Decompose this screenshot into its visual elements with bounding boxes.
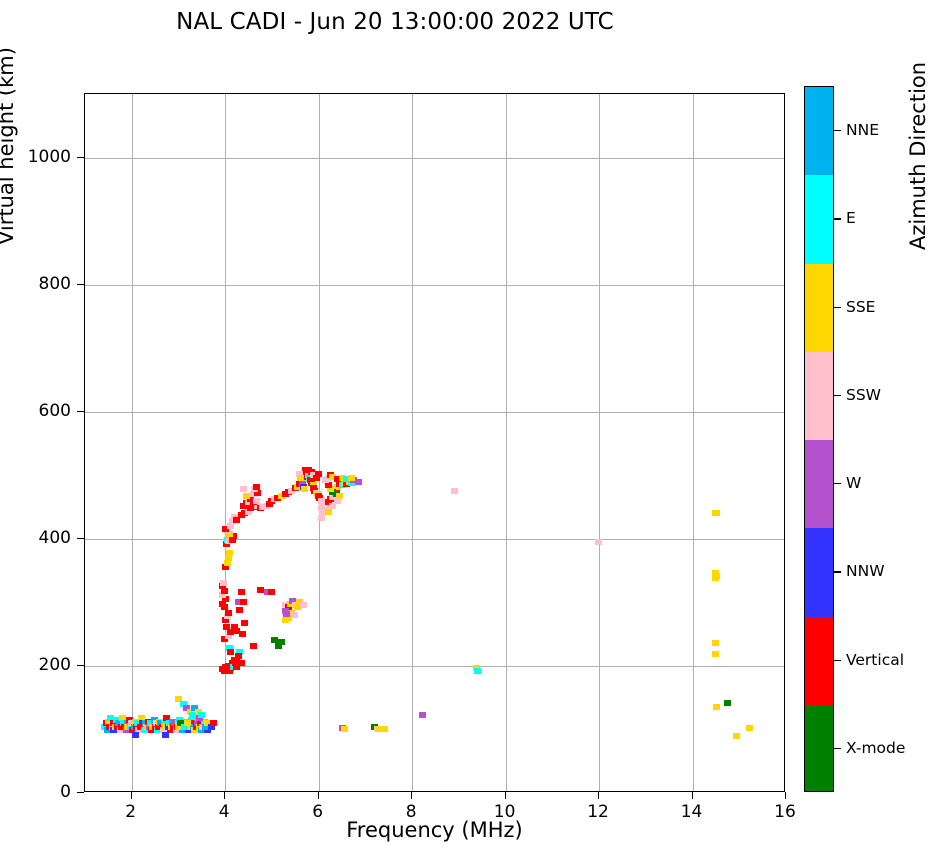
data-point xyxy=(334,498,341,504)
data-point xyxy=(282,617,289,623)
y-axis-tick xyxy=(77,792,84,793)
colorbar-label-sse: SSE xyxy=(846,298,875,316)
y-axis-tick xyxy=(77,538,84,539)
y-axis-tick-label: 400 xyxy=(0,528,71,548)
colorbar-tick xyxy=(834,130,841,131)
data-point xyxy=(220,580,227,586)
y-axis-tick-label: 200 xyxy=(0,655,71,675)
data-point xyxy=(746,725,753,731)
data-point xyxy=(236,607,243,613)
colorbar-tick xyxy=(834,483,841,484)
colorbar-tick xyxy=(834,660,841,661)
y-axis-tick-label: 600 xyxy=(0,401,71,421)
data-point xyxy=(238,660,245,666)
data-point xyxy=(132,732,139,738)
data-point xyxy=(325,509,332,515)
x-axis-tick xyxy=(224,792,225,799)
data-point xyxy=(268,589,275,595)
data-point xyxy=(297,475,304,481)
data-point xyxy=(238,589,245,595)
colorbar-segment-w xyxy=(805,440,833,529)
page-title: NAL CADI - Jun 20 13:00:00 2022 UTC xyxy=(0,9,790,35)
data-point xyxy=(210,720,217,726)
x-axis-tick xyxy=(131,792,132,799)
data-point xyxy=(318,515,325,521)
x-axis-tick xyxy=(411,792,412,799)
data-point xyxy=(713,704,720,710)
colorbar-tick xyxy=(834,395,841,396)
x-axis-tick xyxy=(598,792,599,799)
y-axis-tick-label: 800 xyxy=(0,274,71,294)
data-point xyxy=(419,712,426,718)
colorbar-label-nnw: NNW xyxy=(846,562,885,580)
colorbar-label-w: W xyxy=(846,474,861,492)
data-point xyxy=(474,668,481,674)
data-point xyxy=(348,475,355,481)
x-axis-tick xyxy=(692,792,693,799)
data-point xyxy=(355,479,362,485)
data-point xyxy=(227,649,234,655)
colorbar-tick xyxy=(834,218,841,219)
colorbar-segment-sse xyxy=(805,264,833,353)
colorbar-segment-e xyxy=(805,175,833,264)
data-point xyxy=(301,486,308,492)
colorbar xyxy=(804,86,834,792)
colorbar-label-nne: NNE xyxy=(846,121,879,139)
colorbar-label-e: E xyxy=(846,209,856,227)
colorbar-label-vertical: Vertical xyxy=(846,651,904,669)
data-points-layer xyxy=(85,94,784,791)
data-point xyxy=(198,712,205,718)
x-axis-tick xyxy=(785,792,786,799)
data-point xyxy=(595,539,602,545)
colorbar-segment-vertical xyxy=(805,617,833,706)
data-point xyxy=(713,510,720,516)
x-axis-tick xyxy=(318,792,319,799)
colorbar-segment-nnw xyxy=(805,528,833,617)
colorbar-segment-nne xyxy=(805,87,833,176)
data-point xyxy=(243,493,250,499)
data-point xyxy=(253,498,260,504)
figure: NAL CADI - Jun 20 13:00:00 2022 UTC 0200… xyxy=(0,0,951,856)
data-point xyxy=(712,640,719,646)
data-point xyxy=(223,624,230,630)
data-point xyxy=(240,599,247,605)
data-point xyxy=(253,484,260,490)
data-point xyxy=(712,651,719,657)
colorbar-label-x-mode: X-mode xyxy=(846,739,905,757)
colorbar-label-ssw: SSW xyxy=(846,386,881,404)
data-point xyxy=(226,550,233,556)
colorbar-tick xyxy=(834,748,841,749)
y-axis-label: Virtual height (km) xyxy=(0,47,18,245)
data-point xyxy=(241,620,248,626)
x-axis-tick xyxy=(505,792,506,799)
data-point xyxy=(712,575,719,581)
data-point xyxy=(275,643,282,649)
data-point xyxy=(240,486,247,492)
colorbar-tick xyxy=(834,307,841,308)
data-point xyxy=(184,720,191,726)
data-point xyxy=(283,611,290,617)
colorbar-title: Azimuth Direction xyxy=(906,62,930,250)
data-point xyxy=(291,612,298,618)
x-axis-label: Frequency (MHz) xyxy=(84,818,785,842)
data-point xyxy=(250,643,257,649)
data-point xyxy=(381,726,388,732)
y-axis-tick xyxy=(77,665,84,666)
y-axis-tick xyxy=(77,157,84,158)
data-point xyxy=(162,732,169,738)
data-point xyxy=(451,488,458,494)
plot-area xyxy=(84,93,785,792)
y-axis-tick-label: 0 xyxy=(0,782,71,802)
colorbar-segment-x-mode xyxy=(805,705,833,792)
data-point xyxy=(239,631,246,637)
y-axis-tick xyxy=(77,284,84,285)
data-point xyxy=(733,733,740,739)
data-point xyxy=(300,602,307,608)
data-point xyxy=(341,726,348,732)
data-point xyxy=(257,587,264,593)
colorbar-tick xyxy=(834,571,841,572)
data-point xyxy=(315,471,322,477)
y-axis-tick xyxy=(77,411,84,412)
data-point xyxy=(724,700,731,706)
colorbar-segment-ssw xyxy=(805,352,833,441)
